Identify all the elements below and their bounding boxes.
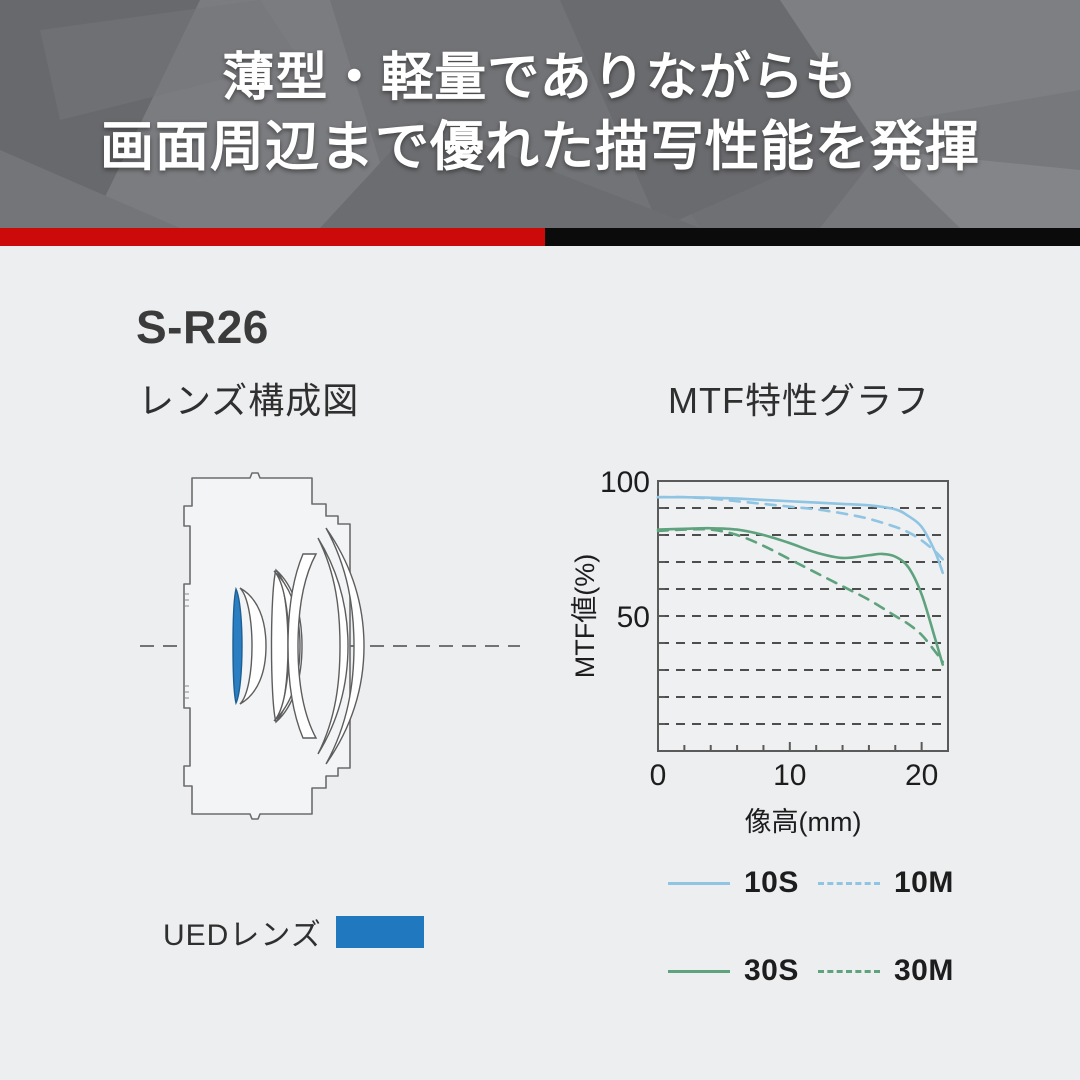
- legend-item-30m: 30M: [818, 954, 968, 988]
- accent-rule-red: [0, 228, 545, 246]
- chart-legend: 10S 10M 30S 30M: [668, 866, 968, 988]
- legend-label-30m: 30M: [894, 954, 954, 988]
- lens-barrel-outline: [184, 473, 350, 819]
- page-title: S-R26: [136, 300, 269, 354]
- banner-headline-2: 画面周辺まで優れた描写性能を発揮: [100, 116, 980, 180]
- legend-line-10m: [818, 882, 880, 885]
- svg-text:20: 20: [905, 759, 938, 792]
- content-area: S-R26 レンズ構成図 MTF特性グラフ: [0, 246, 1080, 1080]
- svg-text:10: 10: [773, 759, 806, 792]
- svg-text:0: 0: [650, 759, 667, 792]
- legend-label-10m: 10M: [894, 866, 954, 900]
- lens-diagram-svg: [140, 446, 520, 846]
- legend-line-10s: [668, 882, 730, 885]
- legend-item-10m: 10M: [818, 866, 968, 900]
- svg-text:50: 50: [617, 601, 650, 634]
- legend-line-30s: [668, 970, 730, 973]
- accent-rule-black: [545, 228, 1080, 246]
- lens-element-ued: [233, 589, 242, 703]
- legend-label-10s: 10S: [744, 866, 799, 900]
- svg-text:100: 100: [600, 466, 650, 499]
- x-axis-tick-labels: 01020: [650, 759, 939, 792]
- legend-item-10s: 10S: [668, 866, 818, 900]
- legend-item-30s: 30S: [668, 954, 818, 988]
- mtf-chart: 01020 50100 像高(mm) MTF値(%): [560, 441, 980, 841]
- mtf-chart-svg: 01020 50100 像高(mm) MTF値(%): [560, 441, 980, 841]
- mtf-chart-title: MTF特性グラフ: [668, 372, 930, 424]
- banner-text-block: 薄型・軽量でありながらも 画面周辺まで優れた描写性能を発揮: [0, 0, 1080, 228]
- header-banner: 薄型・軽量でありながらも 画面周辺まで優れた描写性能を発揮: [0, 0, 1080, 228]
- banner-headline-1: 薄型・軽量でありながらも: [222, 48, 857, 109]
- y-axis-label: MTF値(%): [570, 554, 600, 678]
- ued-lens-legend: UEDレンズ: [163, 910, 424, 954]
- legend-label-30s: 30S: [744, 954, 799, 988]
- lens-diagram-title: レンズ構成図: [138, 372, 359, 424]
- ued-legend-swatch: [336, 916, 424, 948]
- accent-rule: [0, 228, 1080, 246]
- legend-line-30m: [818, 970, 880, 973]
- ued-legend-label: UEDレンズ: [163, 910, 322, 954]
- lens-cross-section-diagram: [140, 446, 520, 846]
- x-axis-label: 像高(mm): [745, 807, 862, 837]
- y-axis-tick-labels: 50100: [600, 466, 650, 634]
